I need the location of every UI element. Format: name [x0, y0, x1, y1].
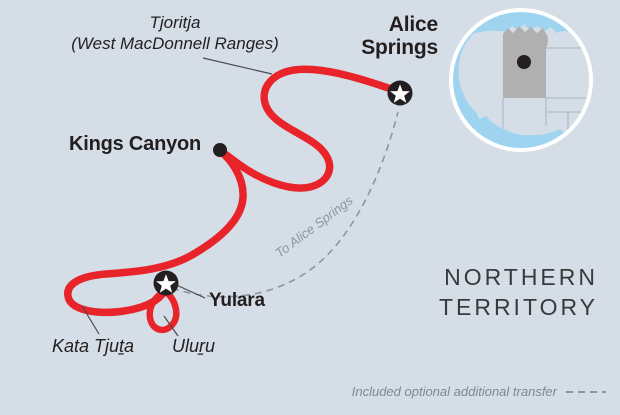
- inset-location-dot: [517, 55, 531, 69]
- feature-label-kata-tjuta: Kata Tjuṯa: [52, 337, 134, 356]
- marker-alice-springs[interactable]: [388, 81, 413, 106]
- place-label-alice-springs: Alice Springs: [361, 14, 438, 59]
- map-legend: Included optional additional transfer: [352, 384, 606, 399]
- transfer-route-dashed: [172, 112, 398, 297]
- main-route-line: [68, 69, 397, 312]
- place-label-kings-canyon: Kings Canyon: [69, 134, 201, 155]
- legend-label: Included optional additional transfer: [352, 384, 557, 399]
- map-container: Alice Springs Kings Canyon Yulara Tjorit…: [0, 0, 620, 415]
- feature-label-uluru: Uluṟu: [172, 337, 215, 356]
- region-label-northern-territory: NORTHERN TERRITORY: [439, 262, 598, 323]
- place-label-yulara: Yulara: [209, 291, 265, 311]
- inset-tasmania: [555, 140, 570, 154]
- leader-line-tjoritja: [203, 58, 272, 74]
- marker-kings-canyon[interactable]: [213, 143, 227, 157]
- marker-yulara[interactable]: [154, 271, 179, 296]
- inset-australia-map: [449, 8, 601, 154]
- legend-dashed-line-swatch: [566, 391, 606, 393]
- feature-label-tjoritja: Tjoritja (West MacDonnell Ranges): [55, 12, 295, 55]
